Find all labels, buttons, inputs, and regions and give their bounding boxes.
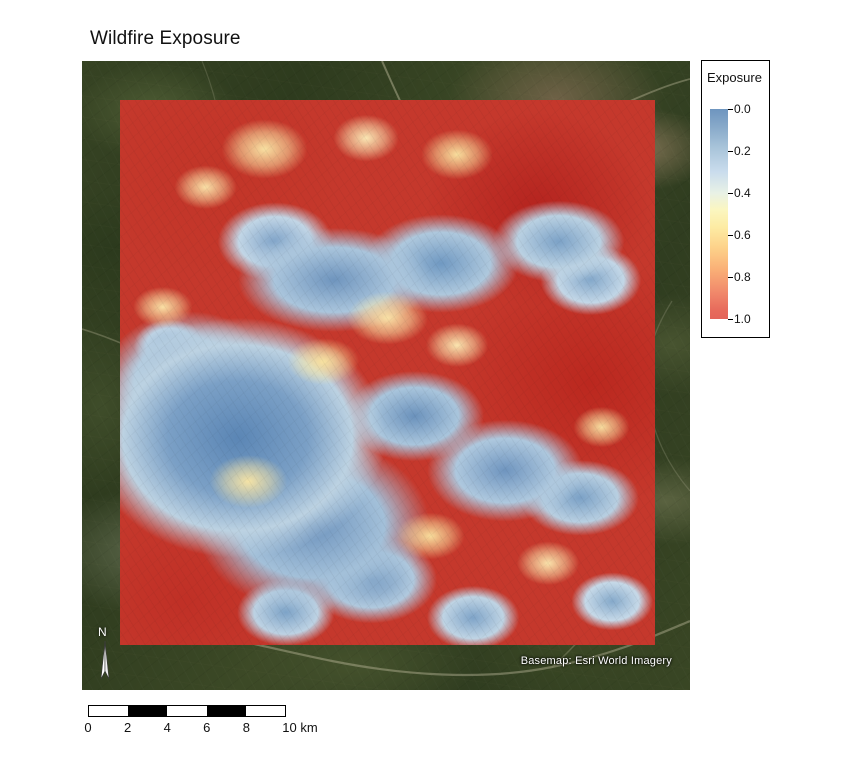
legend-tick-label-3: 0.6: [734, 229, 751, 241]
legend-tick-1: [728, 151, 733, 152]
wildfire-exposure-raster[interactable]: [120, 100, 655, 645]
north-arrow: N: [92, 626, 120, 681]
scale-bar-label-0: 0: [84, 721, 91, 736]
basemap-attribution: Basemap: Esri World Imagery: [521, 655, 672, 667]
page-title: Wildfire Exposure: [90, 28, 241, 50]
legend-tick-4: [728, 277, 733, 278]
legend-colorbar[interactable]: [710, 109, 728, 319]
scale-bar-segment-2: [167, 706, 206, 716]
legend-tick-label-4: 0.8: [734, 271, 751, 283]
scale-bar-label-1: 2: [124, 721, 131, 736]
scale-bar-segment-0: [89, 706, 128, 716]
scale-bar-segment-1: [128, 706, 167, 716]
scale-bar-segment-3: [207, 706, 246, 716]
scale-bar-label-5: 10 km: [282, 721, 317, 736]
map-panel[interactable]: Basemap: Esri World Imagery N: [82, 61, 690, 690]
legend-tick-5: [728, 319, 733, 320]
legend-tick-label-2: 0.4: [734, 187, 751, 199]
legend-tick-label-5: 1.0: [734, 313, 751, 325]
scale-bar-label-4: 8: [243, 721, 250, 736]
north-arrow-icon: [92, 639, 120, 681]
legend-tick-label-0: 0.0: [734, 103, 751, 115]
legend-tick-3: [728, 235, 733, 236]
scale-bar: [88, 705, 286, 717]
legend-tick-label-1: 0.2: [734, 145, 751, 157]
scale-bar-labels: 0246810 km: [88, 721, 303, 737]
north-arrow-label: N: [98, 626, 107, 638]
legend-tick-2: [728, 193, 733, 194]
raster-hillshade-relief: [120, 100, 655, 645]
legend-title: Exposure: [707, 70, 762, 85]
scale-bar-segment-4: [246, 706, 285, 716]
scale-bar-label-3: 6: [203, 721, 210, 736]
legend-tick-0: [728, 109, 733, 110]
scale-bar-label-2: 4: [164, 721, 171, 736]
legend: Exposure 0.00.20.40.60.81.0: [701, 60, 770, 338]
